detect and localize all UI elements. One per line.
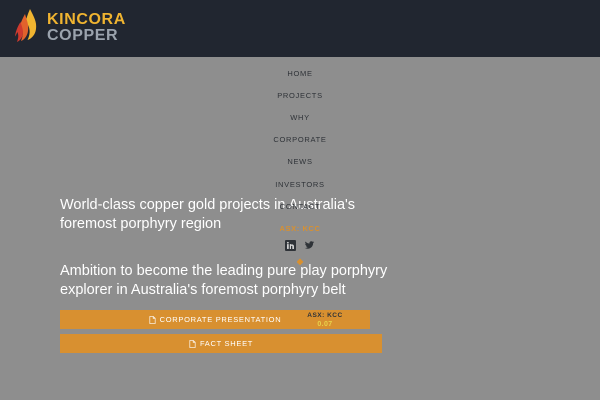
ticker-symbol: ASX: KCC <box>295 312 355 319</box>
logo[interactable]: KINCORA COPPER <box>14 8 126 48</box>
hero-subheadline: Ambition to become the leading pure play… <box>60 262 410 300</box>
document-icon <box>149 316 156 324</box>
corporate-presentation-label: CORPORATE PRESENTATION <box>160 315 282 324</box>
fact-sheet-label: FACT SHEET <box>200 339 253 348</box>
fact-sheet-button[interactable]: FACT SHEET <box>60 334 382 353</box>
linkedin-icon[interactable] <box>285 240 296 251</box>
flame-icon <box>14 8 40 48</box>
social-links <box>285 233 315 251</box>
nav-ticker-label: ASX: KCC <box>279 217 320 233</box>
logo-copper: COPPER <box>47 28 126 44</box>
ticker-price: 0.07 <box>295 321 355 328</box>
logo-text: KINCORA COPPER <box>47 12 126 44</box>
stock-ticker[interactable]: ASX: KCC 0.07 <box>295 312 355 328</box>
site-header: KINCORA COPPER <box>0 0 600 57</box>
nav-item-projects[interactable]: PROJECTS <box>277 84 323 106</box>
nav-item-investors[interactable]: INVESTORS <box>275 173 325 195</box>
scroll-marker-icon <box>297 258 304 265</box>
nav-item-corporate[interactable]: CORPORATE <box>273 129 326 151</box>
nav-item-news[interactable]: NEWS <box>287 151 312 173</box>
document-icon <box>189 340 196 348</box>
logo-kincora: KINCORA <box>47 12 126 28</box>
main-navigation: HOME PROJECTS WHY CORPORATE NEWS INVESTO… <box>0 62 600 265</box>
twitter-icon[interactable] <box>304 240 315 251</box>
nav-item-why[interactable]: WHY <box>290 106 310 128</box>
nav-item-contact[interactable]: CONTACT <box>280 195 321 217</box>
nav-item-home[interactable]: HOME <box>287 62 312 84</box>
